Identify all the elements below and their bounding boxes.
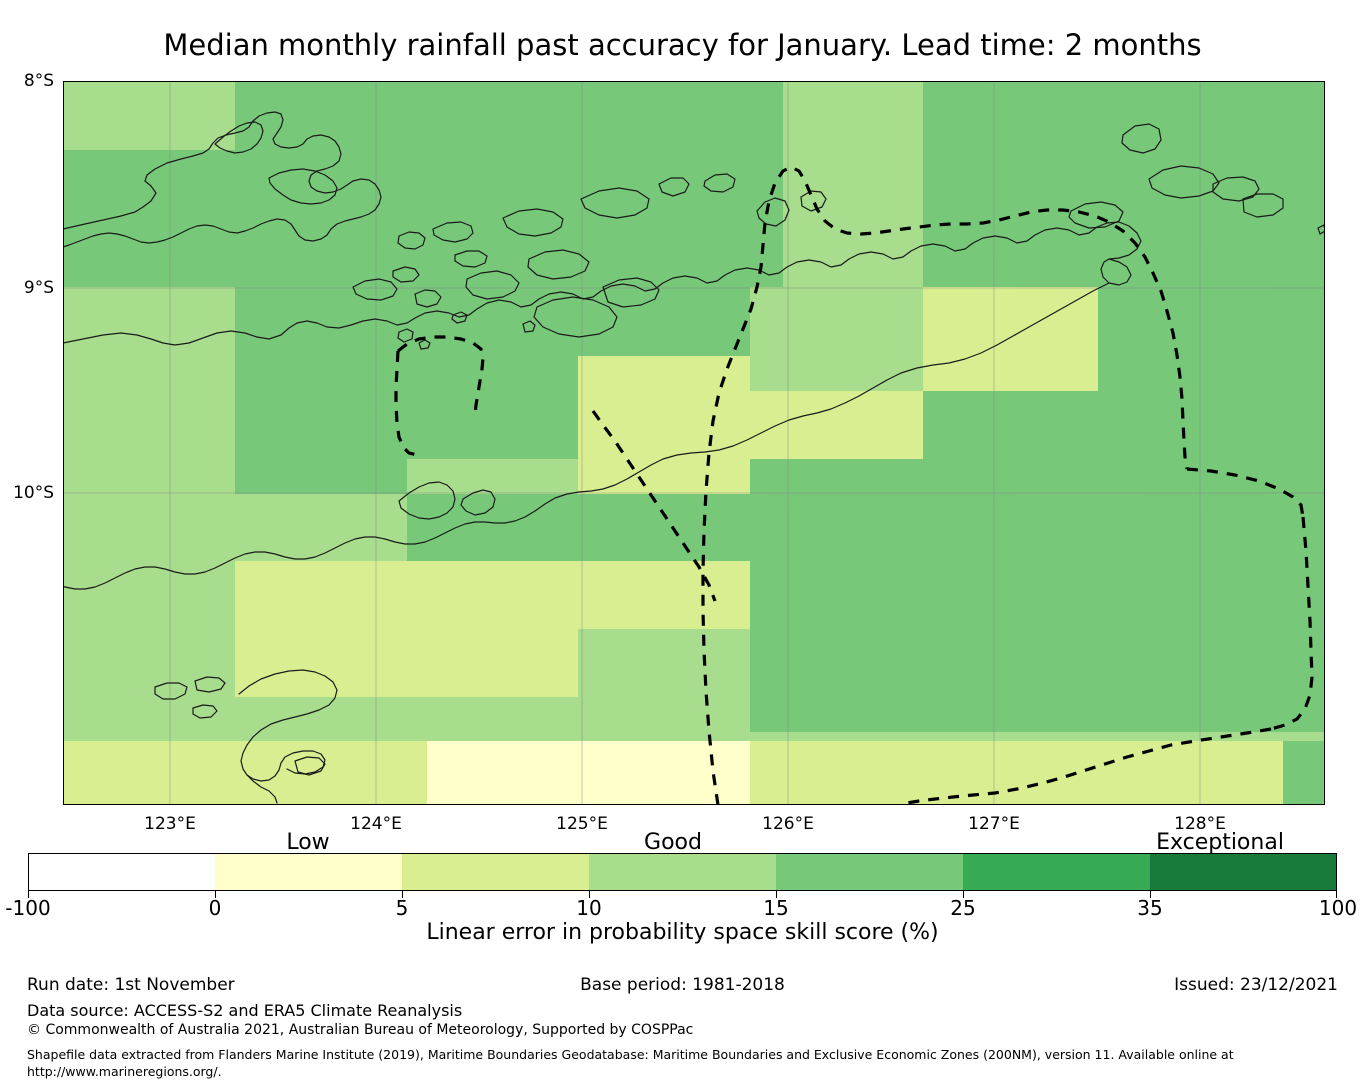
y-tick-label-2: 10°S xyxy=(2,483,54,503)
page-title: Median monthly rainfall past accuracy fo… xyxy=(0,28,1365,62)
colorbar-tick-label-3: 10 xyxy=(544,896,634,920)
y-tick-label-0: 8°S xyxy=(2,71,54,91)
colorbar-segment-1 xyxy=(215,853,402,891)
colorbar-tick-label-4: 15 xyxy=(731,896,821,920)
heatmap-row-6 xyxy=(63,391,1325,459)
colorbar-segment-0 xyxy=(28,853,215,891)
colorbar-tick-label-0: -100 xyxy=(0,896,73,920)
skill-score-heatmap xyxy=(63,81,1325,805)
footer-copyright: © Commonwealth of Australia 2021, Austra… xyxy=(27,1022,693,1038)
colorbar-category-good: Good xyxy=(543,830,803,855)
colorbar xyxy=(28,853,1337,891)
colorbar-tick-label-2: 5 xyxy=(357,896,447,920)
footer-issued: Issued: 23/12/2021 xyxy=(0,975,1338,997)
colorbar-segment-3 xyxy=(589,853,776,891)
map-panel xyxy=(63,81,1325,805)
colorbar-title: Linear error in probability space skill … xyxy=(0,920,1365,945)
heatmap-row-11 xyxy=(63,697,1325,732)
footer-data-source: Data source: ACCESS-S2 and ERA5 Climate … xyxy=(27,1001,462,1020)
heatmap-row-2 xyxy=(63,150,1325,287)
footer-shapefile-line-1: Shapefile data extracted from Flanders M… xyxy=(27,1047,1234,1062)
heatmap-row-5 xyxy=(63,356,1325,391)
colorbar-segment-5 xyxy=(963,853,1150,891)
colorbar-category-exceptional: Exceptional xyxy=(1090,830,1350,855)
colorbar-segment-6 xyxy=(1150,853,1337,891)
colorbar-tick-label-5: 25 xyxy=(918,896,1008,920)
heatmap-row-1 xyxy=(63,81,1325,150)
colorbar-segment-2 xyxy=(402,853,589,891)
heatmap-row-10 xyxy=(63,629,1325,697)
colorbar-tick-label-7: 100 xyxy=(1293,896,1365,920)
heatmap-row-7 xyxy=(63,459,1325,494)
heatmap-row-4 xyxy=(63,287,1325,356)
footer-shapefile-line-2: http://www.marineregions.org/. xyxy=(27,1064,222,1079)
x-tick-label-4: 127°E xyxy=(949,814,1039,834)
colorbar-tick-label-6: 35 xyxy=(1105,896,1195,920)
colorbar-segment-4 xyxy=(776,853,963,891)
heatmap-row-8 xyxy=(63,494,1325,561)
heatmap-row-12 xyxy=(63,732,1325,805)
heatmap-row-9 xyxy=(63,561,1325,629)
colorbar-tick-label-1: 0 xyxy=(170,896,260,920)
colorbar-category-low: Low xyxy=(178,830,438,855)
y-tick-label-1: 9°S xyxy=(2,278,54,298)
